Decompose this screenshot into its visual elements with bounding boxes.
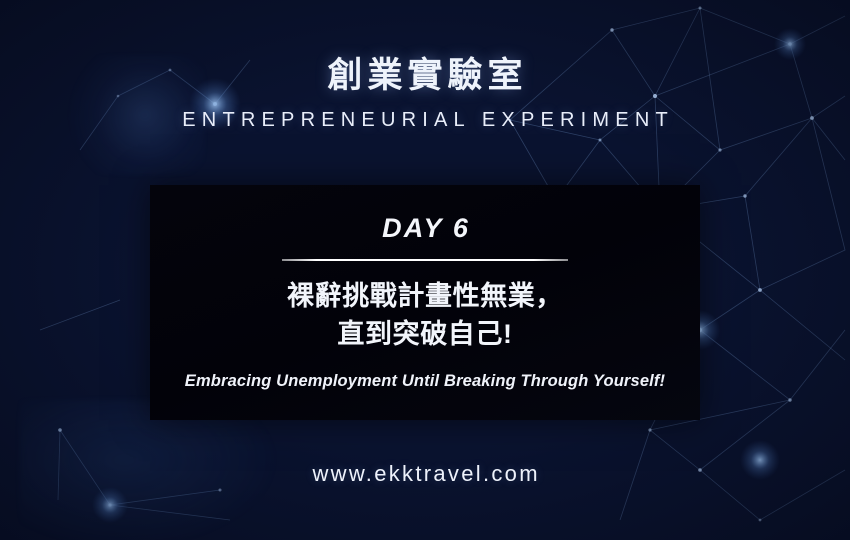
brand-title-cn: 創業實驗室	[0, 56, 850, 96]
brand-title-en: ENTREPRENEURIAL EXPERIMENT	[0, 109, 850, 132]
poster-header: 創業實驗室 ENTREPRENEURIAL EXPERIMENT	[0, 56, 850, 132]
headline-cn-line-1: 裸辭挑戰計畫性無業，	[287, 277, 563, 315]
headline-en: Embracing Unemployment Until Breaking Th…	[175, 370, 675, 393]
headline-cn-line-2: 直到突破自己!	[287, 315, 563, 353]
poster-footer: www.ekktravel.com	[0, 461, 850, 487]
headline-cn: 裸辭挑戰計畫性無業， 直到突破自己!	[287, 277, 563, 354]
content-card: DAY 6 裸辭挑戰計畫性無業， 直到突破自己! Embracing Unemp…	[150, 185, 700, 420]
poster-canvas: 創業實驗室 ENTREPRENEURIAL EXPERIMENT DAY 6 裸…	[0, 0, 850, 540]
card-divider	[282, 259, 568, 261]
site-url[interactable]: www.ekktravel.com	[0, 461, 850, 487]
day-label: DAY 6	[380, 213, 470, 244]
